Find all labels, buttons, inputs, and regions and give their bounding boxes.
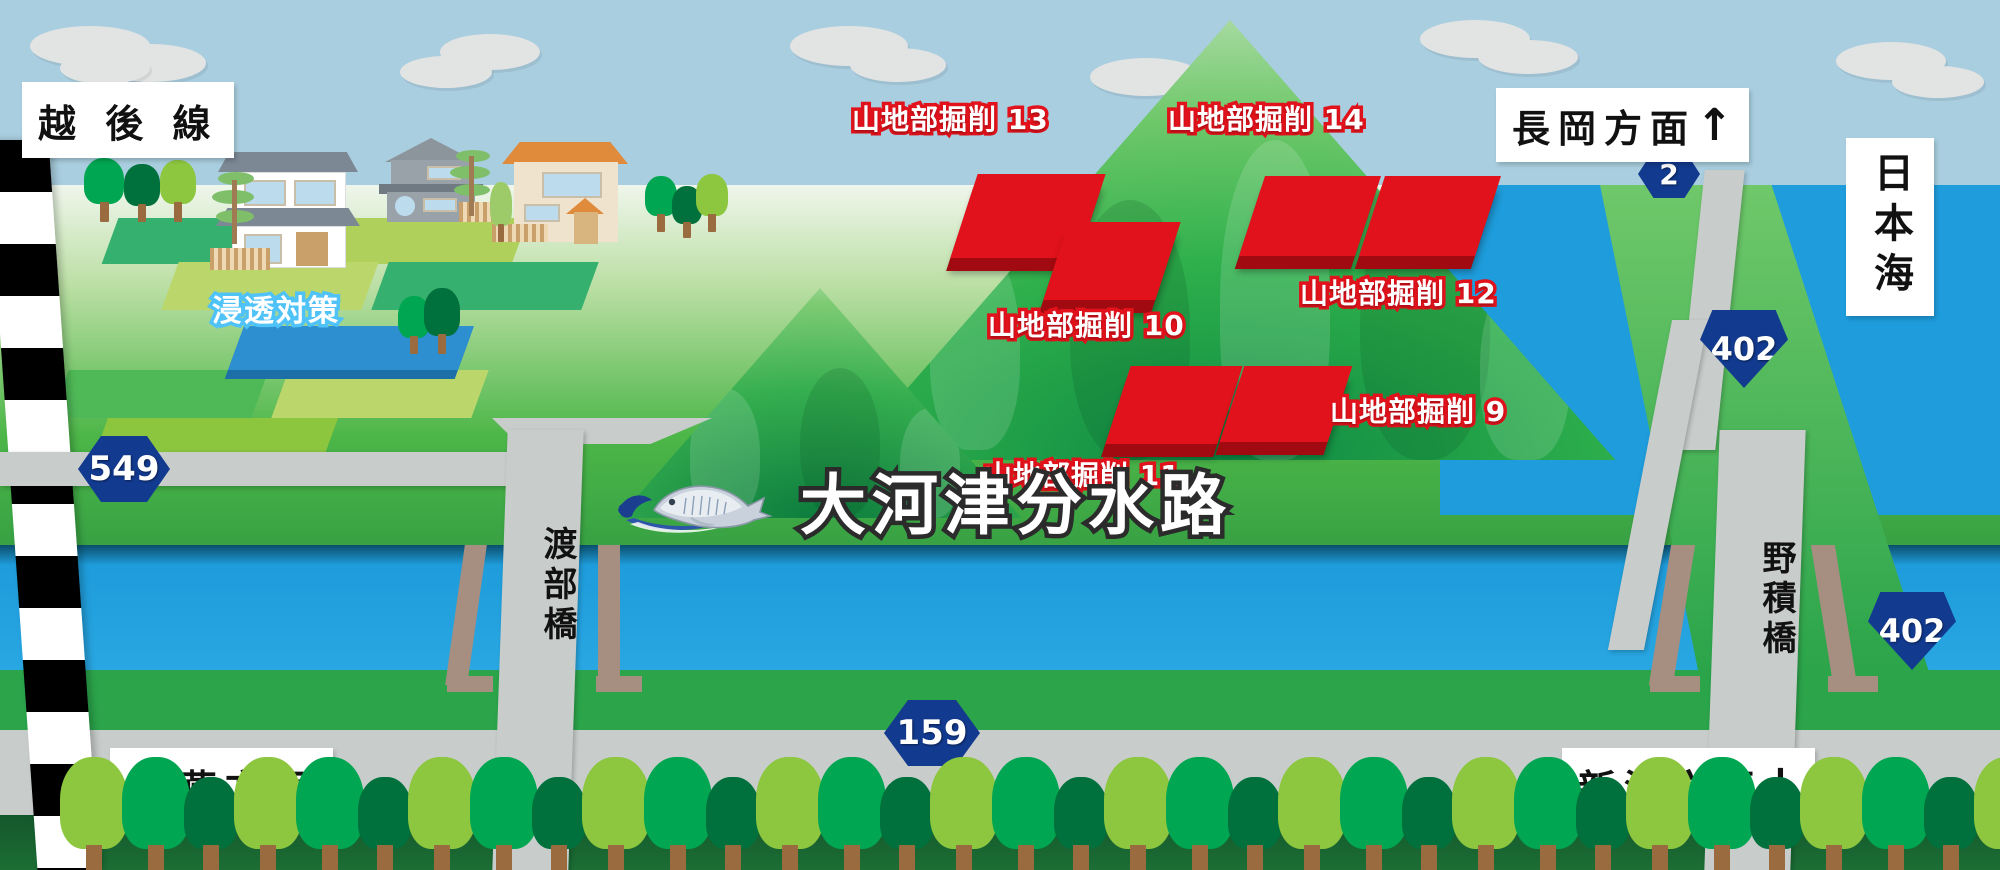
pine-tree: [212, 172, 258, 248]
tree: [992, 757, 1060, 870]
echigo-line-sign-label: 越 後 線: [38, 93, 218, 148]
tree: [1974, 757, 2000, 870]
cloud: [850, 48, 946, 82]
tree: [1514, 757, 1582, 870]
cloud: [1892, 66, 1984, 98]
tree: [490, 182, 512, 242]
pine-tree: [450, 150, 494, 220]
tree: [880, 777, 934, 870]
arrow-up-icon: ↑: [1696, 100, 1733, 151]
tree: [696, 174, 728, 232]
echigo-line-sign[interactable]: 越 後 線: [22, 82, 234, 158]
bridge-pier-base: [596, 676, 642, 692]
cloud: [60, 52, 150, 84]
tree: [1626, 757, 1694, 870]
tree: [1750, 777, 1804, 870]
farm-field: [271, 370, 488, 418]
excavation-label: 山地部掘削 14: [1168, 98, 1365, 138]
nozumi-bridge-label: 野積橋: [1752, 540, 1801, 660]
tree: [1924, 777, 1978, 870]
tree: [1576, 777, 1630, 870]
tree: [1402, 777, 1456, 870]
tree: [1228, 777, 1282, 870]
bridge-pier: [598, 545, 620, 685]
tree: [1340, 757, 1408, 870]
tree: [582, 757, 650, 870]
tree: [1688, 757, 1756, 870]
tree: [532, 777, 586, 870]
tree: [122, 757, 190, 870]
tree: [184, 777, 238, 870]
watanabe-bridge-label: 渡部橋: [533, 526, 582, 646]
bridge-pier-base: [1828, 676, 1878, 692]
south-levee-band: [0, 670, 2000, 730]
tree: [930, 757, 998, 870]
tree: [358, 777, 412, 870]
river-name-label: 大河津分水路: [800, 452, 1232, 548]
tree: [60, 757, 128, 870]
salmon-fish-icon: [612, 458, 782, 538]
tree: [1104, 757, 1172, 870]
tree: [234, 757, 302, 870]
sea-of-japan-sign[interactable]: 日本海: [1846, 138, 1934, 316]
tree: [818, 757, 886, 870]
tree: [1862, 757, 1930, 870]
tree: [1054, 777, 1108, 870]
farm-field: [51, 370, 268, 418]
excavation-label: 山地部掘削 10: [988, 304, 1185, 344]
bridge-pier-base: [447, 676, 493, 692]
house-modern: [510, 142, 620, 244]
nagaoka-direction-sign[interactable]: 長岡方面 ↑: [1496, 88, 1749, 162]
tree: [644, 757, 712, 870]
excavation-label: 山地部掘削 13: [852, 98, 1049, 138]
tree: [1166, 757, 1234, 870]
tree: [756, 757, 824, 870]
tree: [706, 777, 760, 870]
tree: [1278, 757, 1346, 870]
tree: [296, 757, 364, 870]
bridge-pier-base: [1650, 676, 1700, 692]
tree: [124, 164, 160, 220]
excavation-label: 山地部掘削 12: [1300, 272, 1497, 312]
seepage-measure-label: 浸透対策: [212, 286, 340, 330]
sea-of-japan-sign-label: 日本海: [1861, 152, 1919, 302]
cloud: [1478, 40, 1578, 74]
nagaoka-direction-sign-label: 長岡方面: [1512, 98, 1696, 153]
map-illustration: 山地部掘削 13山地部掘削 14山地部掘削 12山地部掘削 10山地部掘削 9山…: [0, 0, 2000, 870]
tree: [424, 288, 460, 354]
tree: [470, 757, 538, 870]
tree: [84, 158, 124, 220]
tree: [160, 160, 196, 220]
tree: [1452, 757, 1520, 870]
cloud: [400, 56, 492, 88]
tree: [408, 757, 476, 870]
tree: [1800, 757, 1868, 870]
excavation-label: 山地部掘削 9: [1330, 390, 1506, 430]
